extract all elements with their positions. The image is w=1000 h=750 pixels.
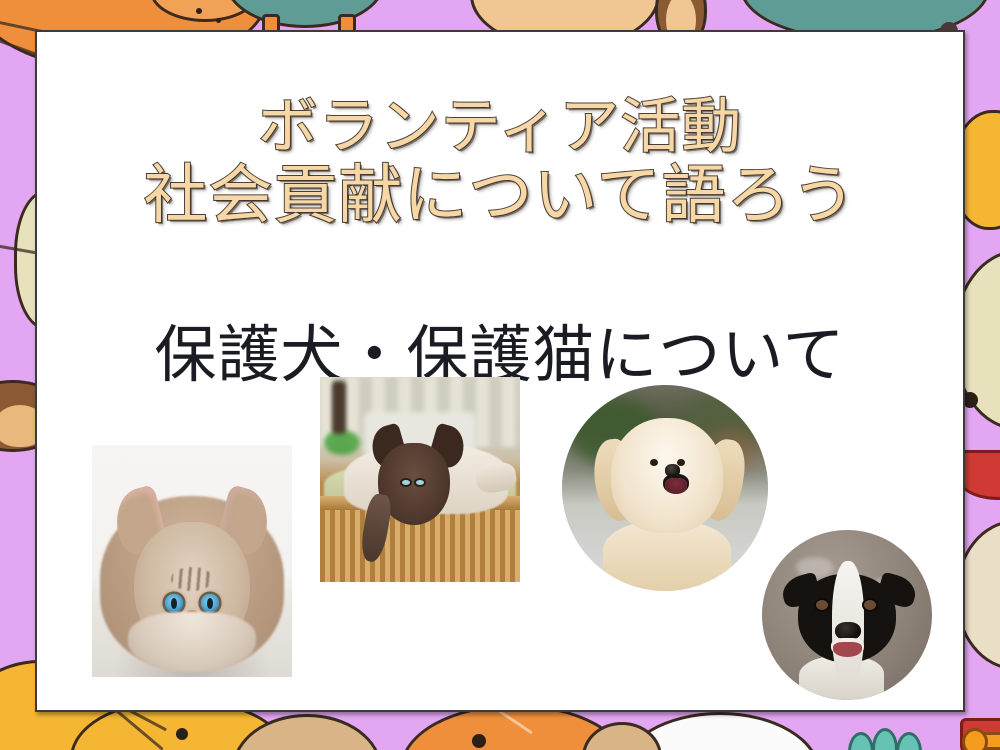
slide-canvas: ボランティア活動 社会貢献について語ろう 保護犬・保護猫について xyxy=(0,0,1000,750)
title-line-2: 社会貢献について語ろう xyxy=(37,161,963,233)
cartoon-eye-dot xyxy=(216,18,221,23)
cartoon-paw-pad-teal xyxy=(872,728,898,750)
collie-eye-left xyxy=(816,600,828,610)
retriever-open-mouth xyxy=(665,478,687,494)
photo-golden-retriever-image xyxy=(562,385,768,591)
photo-siamese-cat xyxy=(320,377,520,582)
cartoon-paw-pad-teal xyxy=(896,732,922,750)
siamese-eye-right xyxy=(416,480,424,485)
cat-forehead-stripes xyxy=(171,567,213,591)
cat-pupil-right xyxy=(207,598,213,609)
cat-pupil-left xyxy=(171,598,177,609)
title-line-1: ボランティア活動 xyxy=(37,94,963,161)
retriever-nose xyxy=(665,464,681,477)
background-dark-object xyxy=(332,381,346,434)
photo-border-collie-image xyxy=(762,530,932,700)
collie-nose xyxy=(835,622,861,641)
photo-siamese-cat-image xyxy=(320,377,520,582)
photo-border-collie xyxy=(762,530,932,700)
photo-tabby-cat xyxy=(92,445,292,677)
slide-title: ボランティア活動 社会貢献について語ろう xyxy=(37,94,963,233)
retriever-eye-left xyxy=(650,459,658,466)
cat-chest-ruff xyxy=(128,612,256,672)
slide-card: ボランティア活動 社会貢献について語ろう 保護犬・保護猫について xyxy=(35,30,965,712)
retriever-head xyxy=(611,418,722,533)
cartoon-eye-dot xyxy=(472,734,486,748)
photo-tabby-cat-image xyxy=(92,445,292,677)
cartoon-bone xyxy=(972,732,1000,750)
cat-eye-left xyxy=(165,594,182,611)
cartoon-eye-dot xyxy=(176,728,188,740)
photo-golden-retriever xyxy=(562,385,768,591)
cat-eye-right xyxy=(201,594,218,611)
cartoon-eye-dot xyxy=(196,8,202,14)
cartoon-paw-pad-teal xyxy=(848,732,874,750)
siamese-eye-left xyxy=(402,480,410,485)
collie-eye-right xyxy=(864,600,876,610)
